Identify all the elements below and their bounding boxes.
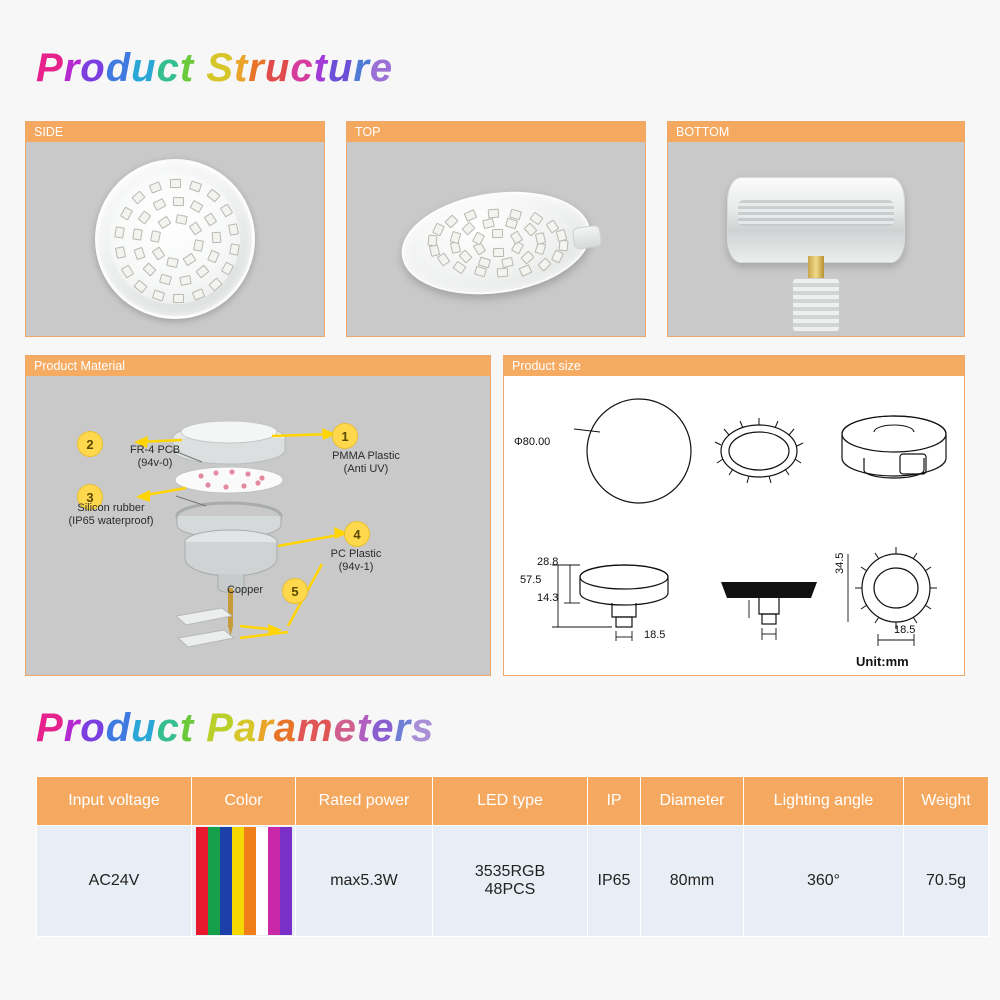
callout-1-line2: (Anti UV) [332,463,400,476]
led-array-top [347,142,645,336]
dim-18-5-left: 18.5 [644,629,665,641]
panel-size-body: Φ80.00 28.8 57.5 14.3 18.5 23 34.5 18.5 … [504,376,964,675]
dim-diameter: Φ80.00 [514,436,550,448]
panel-side: SIDE [25,121,325,337]
page-root: Product Structure SIDE TOP BOTTOM [0,0,1000,1000]
led-chip [121,264,134,278]
led-array-side [26,142,324,336]
led-chip [115,246,126,259]
photo-side-view [26,142,324,336]
led-chip [497,268,509,278]
led-chip [138,210,152,224]
led-chip [158,216,172,230]
panel-bottom-label: BOTTOM [668,122,964,142]
led-chip [518,264,532,277]
led-chip [212,232,222,244]
led-chip [492,228,503,237]
panel-top-label: TOP [347,122,645,142]
led-chip [228,223,239,236]
lamp-bottom-body [727,177,905,263]
led-chip [478,256,491,268]
th-rated-power: Rated power [296,777,433,826]
led-chip [534,242,546,255]
panel-material-body: 1 PMMA Plastic (Anti UV) 2 FR-4 PCB (94v… [26,376,490,675]
th-weight: Weight [904,777,989,826]
led-chip [170,178,181,187]
led-chip [175,214,188,225]
color-swatch-6 [268,827,280,935]
panel-bottom-body [668,142,964,336]
panel-top-body [347,142,645,336]
callout-2-label: FR-4 PCB (94v-0) [130,444,180,470]
callout-2: 2 [77,431,103,457]
callout-3-line1: Silicon rubber [69,502,154,515]
led-chip [189,180,202,192]
led-chip [166,257,179,268]
panel-top: TOP [346,121,646,337]
color-swatch-5 [256,827,268,935]
led-chip [152,246,166,260]
callout-3-line2: (IP65 waterproof) [69,515,154,528]
dim-34-5: 34.5 [834,553,846,574]
td-lighting-angle: 360° [744,826,904,937]
panel-side-label: SIDE [26,122,324,142]
led-chip [114,226,125,238]
callout-2-line1: FR-4 PCB [130,444,180,457]
dim-14-3: 14.3 [537,592,558,604]
panel-product-size: Product size [503,355,965,676]
color-swatch-0 [196,827,208,935]
page-title-structure: Product Structure [36,46,393,91]
lamp-screw-base [792,278,840,332]
led-chip [193,239,204,252]
color-swatch-3 [232,827,244,935]
led-chip [551,249,564,263]
unit-label: Unit:mm [856,654,909,669]
td-led-type: 3535RGB 48PCS [433,826,588,937]
th-lighting-angle: Lighting angle [744,777,904,826]
td-ip: IP65 [588,826,641,937]
led-chip [482,218,495,229]
led-chip [195,265,209,279]
panel-side-body [26,142,324,336]
td-led-type-line2: 48PCS [434,881,586,899]
led-chip [153,198,167,211]
th-led-type: LED type [433,777,588,826]
dim-57-5: 57.5 [520,574,541,586]
led-chip [119,206,132,220]
led-chip [132,190,146,204]
dim-23: 23 [730,586,742,598]
led-chip [450,230,462,243]
parameters-table: Input voltage Color Rated power LED type… [36,776,989,937]
led-chip [149,181,163,193]
led-chip [229,244,240,256]
callout-4-line2: (94v-1) [331,561,382,574]
led-chip [537,257,551,271]
callout-2-line2: (94v-0) [130,457,180,470]
callout-1-label: PMMA Plastic (Anti UV) [332,450,400,476]
table-header-row: Input voltage Color Rated power LED type… [37,777,989,826]
td-weight: 70.5g [904,826,989,937]
color-swatch-1 [208,827,220,935]
led-chip [173,294,184,303]
td-color [192,826,296,937]
led-chip [487,208,499,218]
led-chip [493,248,504,257]
td-led-type-line1: 3535RGB [434,863,586,881]
callout-4-line1: PC Plastic [331,548,382,561]
callout-4-label: PC Plastic (94v-1) [331,548,382,574]
panel-size-label: Product size [504,356,964,376]
led-chip [461,221,475,235]
led-chip [173,196,184,205]
td-input-voltage: AC24V [37,826,192,937]
parameters-table-wrapper: Input voltage Color Rated power LED type… [36,776,964,937]
led-chip [182,253,196,267]
led-chip [152,290,165,302]
dim-18-5-right: 18.5 [894,624,915,636]
th-color: Color [192,777,296,826]
callout-5-label: Copper [227,584,263,597]
led-chip [190,200,204,213]
led-chip [474,266,487,278]
panel-material-label: Product Material [26,356,490,376]
led-chip [501,257,514,268]
page-title-parameters: Product Parameters [36,706,434,751]
color-swatch-7 [280,827,292,935]
led-chip [134,279,148,293]
led-chip [464,209,478,222]
led-chip [132,229,143,241]
led-chip [445,214,459,228]
led-chip [206,189,220,203]
led-chip [220,204,233,218]
table-row: AC24V max5.3W 3535RGB 48PCS IP65 80mm 36… [37,826,989,937]
photo-top-view [347,142,645,336]
led-chip [179,275,192,286]
led-chip [189,222,203,236]
photo-bottom-view [668,142,964,336]
led-chip [221,262,234,276]
led-chip [159,274,172,286]
callout-5: 5 [282,578,308,604]
th-input-voltage: Input voltage [37,777,192,826]
led-chip [142,263,156,277]
led-chip [191,289,205,301]
th-ip: IP [588,777,641,826]
td-diameter: 80mm [641,826,744,937]
led-chip [559,240,569,252]
led-chip [208,250,221,264]
led-chip [521,251,535,265]
led-chip [208,277,222,291]
th-diameter: Diameter [641,777,744,826]
led-chip [204,212,217,226]
led-chip [427,234,437,246]
led-chip [150,230,161,243]
color-swatch-strip [196,827,292,935]
color-swatch-2 [220,827,232,935]
led-chip [504,218,517,230]
callout-1-line1: PMMA Plastic [332,450,400,463]
callout-4: 4 [344,521,370,547]
color-swatch-4 [244,827,256,935]
panel-bottom: BOTTOM [667,121,965,337]
callout-3-label: Silicon rubber (IP65 waterproof) [69,502,154,528]
callout-5-line1: Copper [227,584,263,597]
callout-1: 1 [332,423,358,449]
led-chip [472,231,485,245]
led-chip [133,247,145,260]
dim-28-8: 28.8 [537,556,558,568]
panel-product-material: Product Material [25,355,491,676]
td-rated-power: max5.3W [296,826,433,937]
led-chip [535,232,546,245]
